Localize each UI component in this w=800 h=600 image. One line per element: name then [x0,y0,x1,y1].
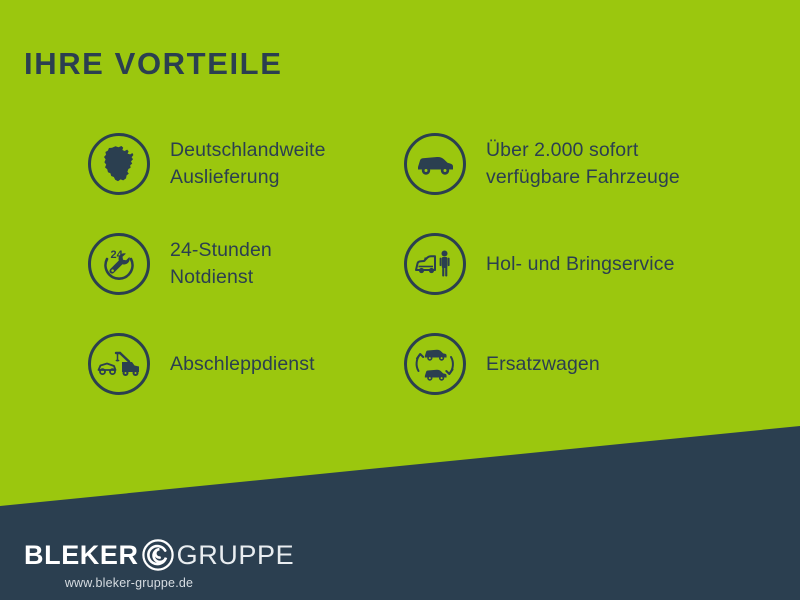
benefit-label-line: 24-Stunden [170,237,272,264]
car-with-person-icon [404,233,466,295]
benefits-right-column: Über 2.000 sofort verfügbare Fahrzeuge [404,114,744,414]
slide-canvas: IHRE VORTEILE Deutschlandweite Ausliefer… [0,0,800,600]
logo-secondary-text: GRUPPE [177,542,295,569]
germany-map-icon [88,133,150,195]
benefit-label-line: Über 2.000 sofort [486,137,680,164]
benefit-label-line: Auslieferung [170,164,326,191]
benefit-label-line: Hol- und Bringservice [486,251,675,278]
benefits-left-column: Deutschlandweite Auslieferung 24 [88,114,408,414]
benefit-item-abschleppdienst: Abschleppdienst [88,314,408,414]
benefit-item-ersatzwagen: Ersatzwagen [404,314,744,414]
page-title: IHRE VORTEILE [24,48,283,79]
benefit-label: Abschleppdienst [170,351,315,378]
logo-row: BLEKER GRUPPE [24,538,294,572]
benefit-label: Deutschlandweite Auslieferung [170,137,326,191]
car-icon [404,133,466,195]
24-hour-wrench-icon: 24 [88,233,150,295]
benefit-label-line: verfügbare Fahrzeuge [486,164,680,191]
logo-primary-text: BLEKER [24,542,139,569]
two-cars-exchange-icon [404,333,466,395]
benefit-label-line: Notdienst [170,264,272,291]
benefit-label-line: Ersatzwagen [486,351,600,378]
benefit-label: 24-Stunden Notdienst [170,237,272,291]
benefit-label: Hol- und Bringservice [486,251,675,278]
benefit-label: Ersatzwagen [486,351,600,378]
tow-truck-icon [88,333,150,395]
spiral-logo-icon [141,538,175,572]
benefit-item-hol-und-bringservice: Hol- und Bringservice [404,214,744,314]
benefit-item-verfuegbare-fahrzeuge: Über 2.000 sofort verfügbare Fahrzeuge [404,114,744,214]
benefit-label-line: Abschleppdienst [170,351,315,378]
benefit-item-24-stunden-notdienst: 24 24-Stunden Notdienst [88,214,408,314]
benefit-label-line: Deutschlandweite [170,137,326,164]
benefit-label: Über 2.000 sofort verfügbare Fahrzeuge [486,137,680,191]
footer-logo: BLEKER GRUPPE www.bleker-gruppe.de [24,538,294,590]
website-url: www.bleker-gruppe.de [24,576,234,590]
benefit-item-deutschlandweite-auslieferung: Deutschlandweite Auslieferung [88,114,408,214]
